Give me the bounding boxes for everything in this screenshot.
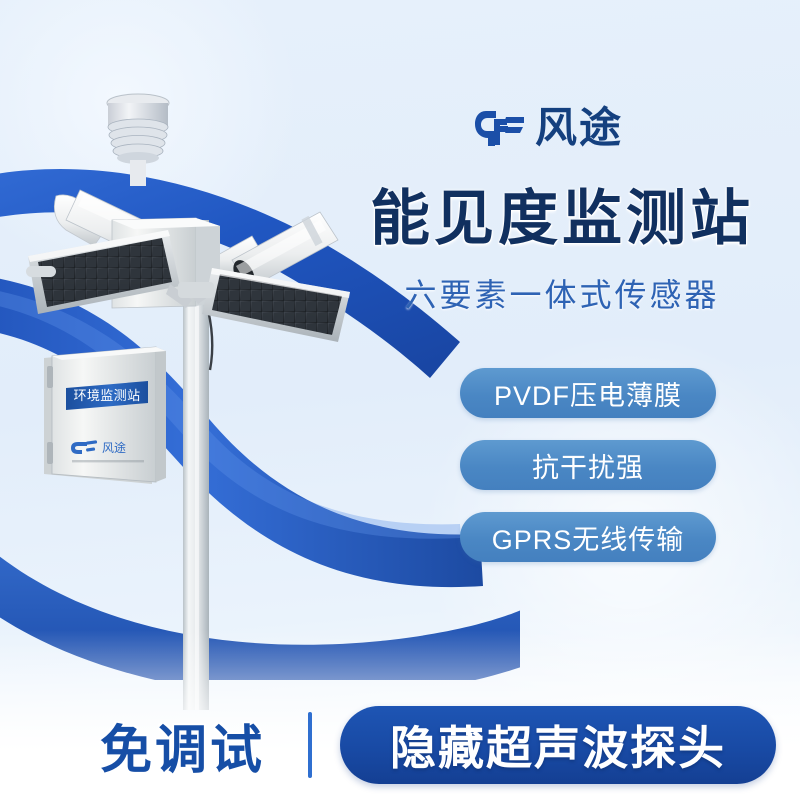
radiation-shield <box>107 94 169 186</box>
banner-pill-label: 隐藏超声波探头 <box>390 712 726 778</box>
cabinet-brand-text: 风途 <box>102 440 126 455</box>
page-subtitle: 六要素一体式传感器 <box>352 270 772 316</box>
solar-panel-right <box>192 268 350 342</box>
brand-name: 风途 <box>535 108 623 148</box>
cabinet-fineprint <box>72 460 144 462</box>
banner-divider <box>308 712 312 778</box>
brand-lockup: 风途 <box>474 108 623 148</box>
bottom-banner: 免调试 隐藏超声波探头 <box>0 700 800 792</box>
cabinet-label-text: 环境监测站 <box>73 388 140 403</box>
banner-highlight-pill: 隐藏超声波探头 <box>340 706 776 784</box>
product-image: 环境监测站 风途 <box>20 70 400 710</box>
gf-logo-icon <box>474 108 526 148</box>
feature-pill-anti-interference[interactable]: 抗干扰强 <box>460 440 716 490</box>
banner-left-label: 免调试 <box>100 708 265 783</box>
equipment-cabinet: 环境监测站 风途 <box>44 347 166 484</box>
feature-pill-pvdf[interactable]: PVDF压电薄膜 <box>460 368 716 418</box>
page-title: 能见度监测站 <box>352 186 772 252</box>
feature-pill-gprs[interactable]: GPRS无线传输 <box>460 512 716 562</box>
feature-pill-list: PVDF压电薄膜 抗干扰强 GPRS无线传输 <box>460 368 716 562</box>
panel-mounting-collar <box>178 282 214 298</box>
product-poster: 环境监测站 风途 风途 能见度监测站 六要素一体式传感器 PV <box>0 0 800 800</box>
